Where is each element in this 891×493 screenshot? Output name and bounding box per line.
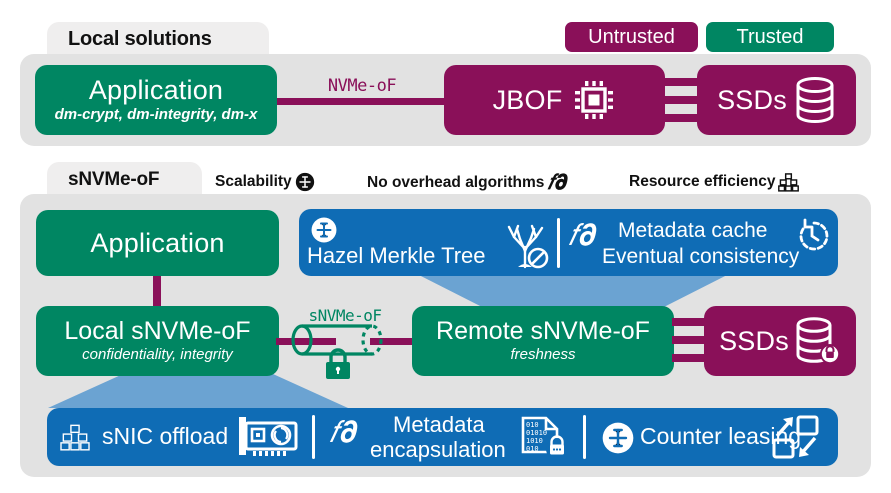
legend-trusted: Trusted xyxy=(706,22,834,52)
svg-text:1010: 1010 xyxy=(526,437,543,445)
scalability-icon xyxy=(602,422,634,454)
jbof-box: JBOF xyxy=(444,65,665,135)
nic-card-icon xyxy=(237,415,299,461)
stack-icon xyxy=(778,172,799,192)
metadata-encapsulation-line1: Metadata xyxy=(393,412,485,438)
fx-icon: 𝑓𝛛 xyxy=(329,418,355,448)
metadata-encapsulation-group: 𝑓𝛛 Metadata encapsulation 01001010101001… xyxy=(315,408,583,466)
local-snvme-box: Local sNVMe-oF confidentiality, integrit… xyxy=(36,306,279,376)
tunnel-icon xyxy=(288,322,393,380)
fx-icon: 𝑓𝛛 xyxy=(568,221,594,251)
jbof-ssd-link-1 xyxy=(663,78,699,86)
remote-snvme-box: Remote sNVMe-oF freshness xyxy=(412,306,674,376)
merkle-tree-icon xyxy=(501,217,553,269)
jbof-ssd-link-3 xyxy=(663,114,699,122)
svg-text:01010: 01010 xyxy=(526,429,547,437)
bottom-blue-panel: sNIC offload 𝑓𝛛 xyxy=(47,408,838,466)
remote-ssd-link-3 xyxy=(672,354,706,362)
nvmeof-link-label: NVMe-oF xyxy=(297,76,427,96)
snvme-ssds-title: SSDs xyxy=(719,327,789,355)
svg-text:010: 010 xyxy=(526,421,539,429)
legend-trusted-label: Trusted xyxy=(736,26,803,49)
swap-icon xyxy=(771,414,821,460)
scalability-icon xyxy=(311,217,337,243)
snvme-title: sNVMe-oF xyxy=(68,169,218,191)
remote-snvme-title: Remote sNVMe-oF xyxy=(436,318,650,344)
metadata-cache-group: 𝑓𝛛 Metadata cache Eventual consistency xyxy=(560,209,838,276)
feature-scalability: Scalability xyxy=(215,172,315,192)
top-blue-panel: Hazel Merkle Tree 𝑓𝛛 Metadata xyxy=(299,209,838,276)
snic-offload-label: sNIC offload xyxy=(102,423,228,450)
diagram-canvas: Untrusted Trusted Local solutions NVMe-o… xyxy=(0,0,891,493)
feature-resource-efficiency-label: Resource efficiency xyxy=(629,173,775,191)
local-ssds-title: SSDs xyxy=(717,86,787,114)
database-icon xyxy=(794,76,836,124)
fx-icon: 𝑓𝛛 xyxy=(547,172,565,193)
stack-icon xyxy=(59,423,91,451)
local-application-subtitle: dm-crypt, dm-integrity, dm-x xyxy=(55,106,258,124)
metadata-cache-line1: Metadata cache xyxy=(618,219,767,243)
hazel-merkle-group: Hazel Merkle Tree xyxy=(299,209,557,276)
chip-icon xyxy=(572,78,616,122)
snvme-application-box: Application xyxy=(36,210,279,276)
scalability-icon xyxy=(295,172,315,192)
metadata-cache-line2: Eventual consistency xyxy=(602,245,799,269)
nvmeof-link-line xyxy=(276,98,448,105)
legend-untrusted: Untrusted xyxy=(565,22,698,52)
metadata-encapsulation-line2: encapsulation xyxy=(370,437,506,463)
feature-no-overhead-label: No overhead algorithms xyxy=(367,174,544,192)
legend-untrusted-label: Untrusted xyxy=(588,26,675,49)
clock-icon xyxy=(792,216,832,256)
jbof-title: JBOF xyxy=(493,86,563,114)
encrypted-doc-icon: 010010101010010 xyxy=(520,416,568,460)
local-solutions-title: Local solutions xyxy=(68,28,268,50)
remote-snvme-subtitle: freshness xyxy=(510,346,575,364)
remote-ssd-link-1 xyxy=(672,318,706,326)
remote-ssd-link-2 xyxy=(672,336,706,344)
local-ssds-box: SSDs xyxy=(697,65,856,135)
local-application-box: Application dm-crypt, dm-integrity, dm-x xyxy=(35,65,277,135)
local-application-title: Application xyxy=(89,76,223,104)
jbof-ssd-link-2 xyxy=(663,96,699,104)
local-snvme-title: Local sNVMe-oF xyxy=(64,318,250,344)
database-lock-icon xyxy=(795,316,841,366)
svg-text:010: 010 xyxy=(526,445,539,453)
feature-scalability-label: Scalability xyxy=(215,173,292,191)
app-to-local-link xyxy=(153,272,161,310)
snic-offload-group: sNIC offload xyxy=(47,408,312,466)
snvme-application-title: Application xyxy=(90,229,224,257)
hazel-merkle-tree-label: Hazel Merkle Tree xyxy=(307,243,486,269)
feature-resource-efficiency: Resource efficiency xyxy=(629,172,799,192)
local-snvme-subtitle: confidentiality, integrity xyxy=(82,346,233,364)
funnel-top-to-remote xyxy=(413,272,733,310)
feature-no-overhead: No overhead algorithms 𝑓𝛛 xyxy=(367,172,566,193)
snvme-ssds-box: SSDs xyxy=(704,306,856,376)
counter-leasing-group: Counter leasing xyxy=(586,408,836,466)
